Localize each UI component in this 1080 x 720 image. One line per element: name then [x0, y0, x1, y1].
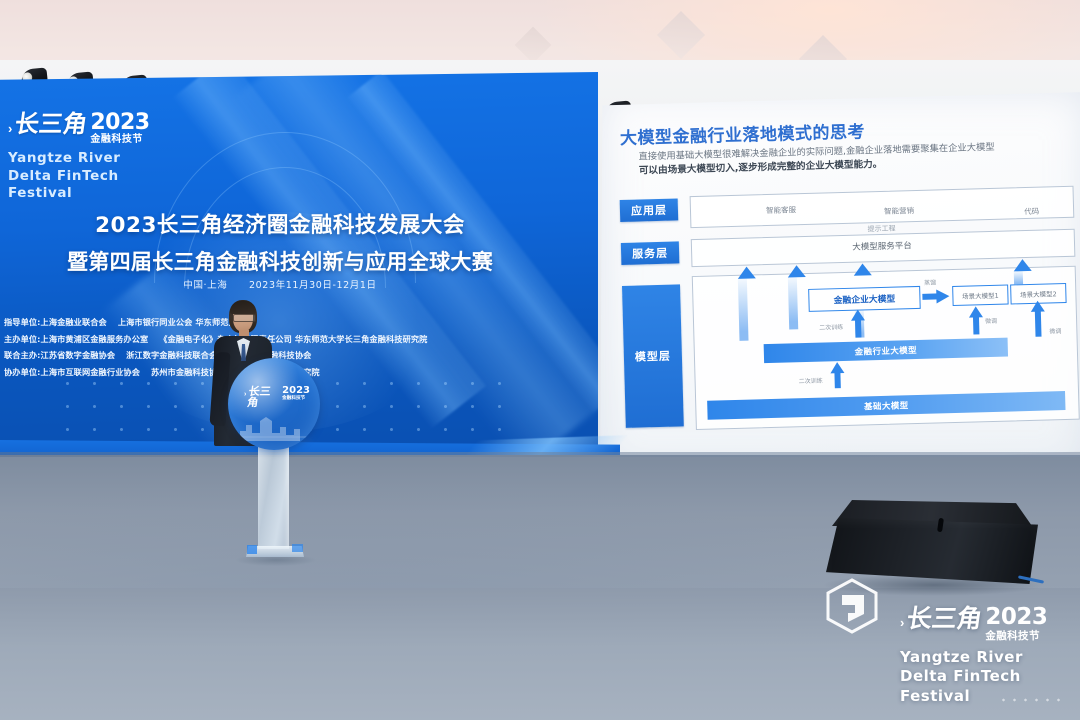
layer-tag-service: 服务层: [621, 241, 680, 265]
scenario-model-box: 场景大模型1: [952, 285, 1009, 307]
organizer-value: 上海市黄浦区金融服务办公室: [41, 334, 149, 344]
annotation-finetune-2: 微调: [1049, 326, 1061, 335]
flow-arrow-up-head: [788, 265, 806, 277]
podium-logo-sub: 金融科技节: [282, 397, 310, 402]
flow-arrow-up-stem: [788, 277, 798, 329]
application-item: 智能客服: [766, 204, 796, 216]
backdrop-title: 2023长三角经济圈金融科技发展大会 暨第四届长三角金融科技创新与应用全球大赛: [30, 208, 530, 276]
finetune-arrow-head: [969, 306, 983, 317]
organizer-label: 指导单位:: [4, 317, 41, 327]
podium-logo-year: 2023: [282, 386, 310, 396]
presentation-screen: 大模型金融行业落地模式的思考 直接使用基础大模型很难解决金融企业的实际问题,金融…: [600, 92, 1080, 474]
backdrop-title-line-2: 暨第四届长三角金融科技创新与应用全球大赛: [30, 246, 530, 276]
watermark-caret-icon: ›: [900, 616, 904, 629]
festival-monogram-icon: [824, 578, 880, 634]
backdrop-dates: 2023年11月30日-12月1日: [249, 280, 377, 291]
festival-watermark: › 长三角 2023 金融科技节 Yangtze River Delta Fin…: [818, 578, 1080, 710]
speaker-hair: [230, 301, 256, 314]
podium-emblem: › 长三角 2023 金融科技节: [228, 358, 320, 450]
watermark-dot-accent: [998, 696, 1068, 704]
retrain-arrow-stem: [855, 320, 861, 338]
distill-arrow-head: [936, 289, 949, 303]
slide-architecture-diagram: 应用层 服务层 模型层 智能客服 智能营销 代码 提示工程 大模型服务平台: [620, 186, 1079, 448]
slide-title: 大模型金融行业落地模式的思考: [620, 117, 866, 149]
watermark-year: 2023: [985, 606, 1047, 629]
layer-tag-application: 应用层: [620, 198, 679, 222]
skyline-graphic-icon: [238, 407, 310, 441]
watermark-en-line-2: Delta FinTech: [900, 667, 1080, 687]
watermark-cn-name: 长三角: [906, 606, 985, 631]
watermark-text: › 长三角 2023 金融科技节 Yangtze River Delta Fin…: [900, 606, 1080, 707]
retrain-arrow-stem: [834, 372, 840, 388]
annotation-finetune-1: 微调: [985, 316, 997, 325]
organizer-label: 主办单位:: [4, 334, 41, 344]
backdrop-title-line-1: 2023长三角经济圈金融科技发展大会: [30, 208, 530, 239]
watermark-cn-sub: 金融科技节: [985, 631, 1047, 642]
festival-logo-en-line-1: Yangtze River: [8, 150, 188, 168]
organizer-extra: 《金融电子化》杂志社有限责任公司 华东师范大学长三角金融科技研究院: [159, 334, 427, 344]
stage-edge: [0, 452, 1080, 457]
festival-logo: › 长三角 2023 金融科技节 Yangtze River Delta Fin…: [8, 112, 188, 203]
watermark-en-line-1: Yangtze River: [900, 648, 1080, 668]
layer-tag-model: 模型层: [622, 284, 684, 428]
annotation-retrain-industry: 二次训练: [819, 322, 843, 332]
flow-arrow-up-head: [1013, 259, 1031, 271]
organizer-value: 上海金融业联合会: [41, 317, 107, 327]
podium-base-accent: [247, 545, 257, 554]
annotation-retrain-base: 二次训练: [799, 376, 823, 386]
podium-column: [258, 444, 289, 549]
flow-arrow-up-head: [853, 263, 871, 275]
backdrop-event-meta: 中国·上海 2023年11月30日-12月1日: [30, 277, 530, 291]
conference-stage-photo: › 长三角 2023 金融科技节 Yangtze River Delta Fin…: [0, 0, 1080, 720]
podium-logo-caret-icon: ›: [244, 391, 246, 398]
flow-arrow-up-head: [738, 266, 756, 278]
organizer-label: 联合主办:: [4, 350, 41, 360]
finetune-arrow-stem: [973, 316, 979, 334]
podium-logo-cn-name: 长三角: [247, 386, 282, 408]
retrain-arrow-head: [851, 309, 865, 320]
enterprise-model-box: 金融企业大模型: [808, 286, 921, 312]
podium-festival-logo: › 长三角 2023 金融科技节: [244, 386, 310, 408]
finetune-arrow-stem: [1035, 311, 1042, 337]
podium-base-accent: [292, 544, 303, 552]
organizer-value: 江苏省数字金融协会: [41, 350, 116, 360]
retrain-arrow-head: [830, 362, 844, 373]
flow-arrow-up-stem: [738, 279, 749, 341]
glasses-icon: [233, 314, 256, 322]
backdrop-organizer-line: 主办单位:上海市黄浦区金融服务办公室《金融电子化》杂志社有限责任公司 华东师范大…: [4, 335, 564, 343]
backdrop-location: 中国·上海: [183, 280, 227, 291]
festival-logo-en-line-2: Delta FinTech: [8, 168, 188, 186]
application-item: 智能营销: [884, 205, 914, 217]
organizer-label: 协办单位:: [4, 367, 41, 377]
festival-logo-cn-name: 长三角: [14, 112, 89, 136]
festival-logo-cn-sub: 金融科技节: [90, 135, 149, 145]
organizer-value: 上海市互联网金融行业协会: [41, 367, 140, 377]
backdrop-organizer-line: 指导单位:上海金融业联合会上海市银行同业公会 华东师范大学: [4, 318, 564, 326]
application-item: 代码: [1024, 206, 1039, 217]
annotation-distill: 蒸馏: [924, 277, 936, 286]
podium: › 长三角 2023 金融科技节: [228, 358, 320, 563]
festival-logo-caret-icon: ›: [8, 122, 12, 135]
festival-logo-year: 2023: [90, 112, 149, 134]
finetune-arrow-head: [1031, 301, 1045, 312]
festival-logo-en-line-3: Festival: [8, 185, 188, 203]
